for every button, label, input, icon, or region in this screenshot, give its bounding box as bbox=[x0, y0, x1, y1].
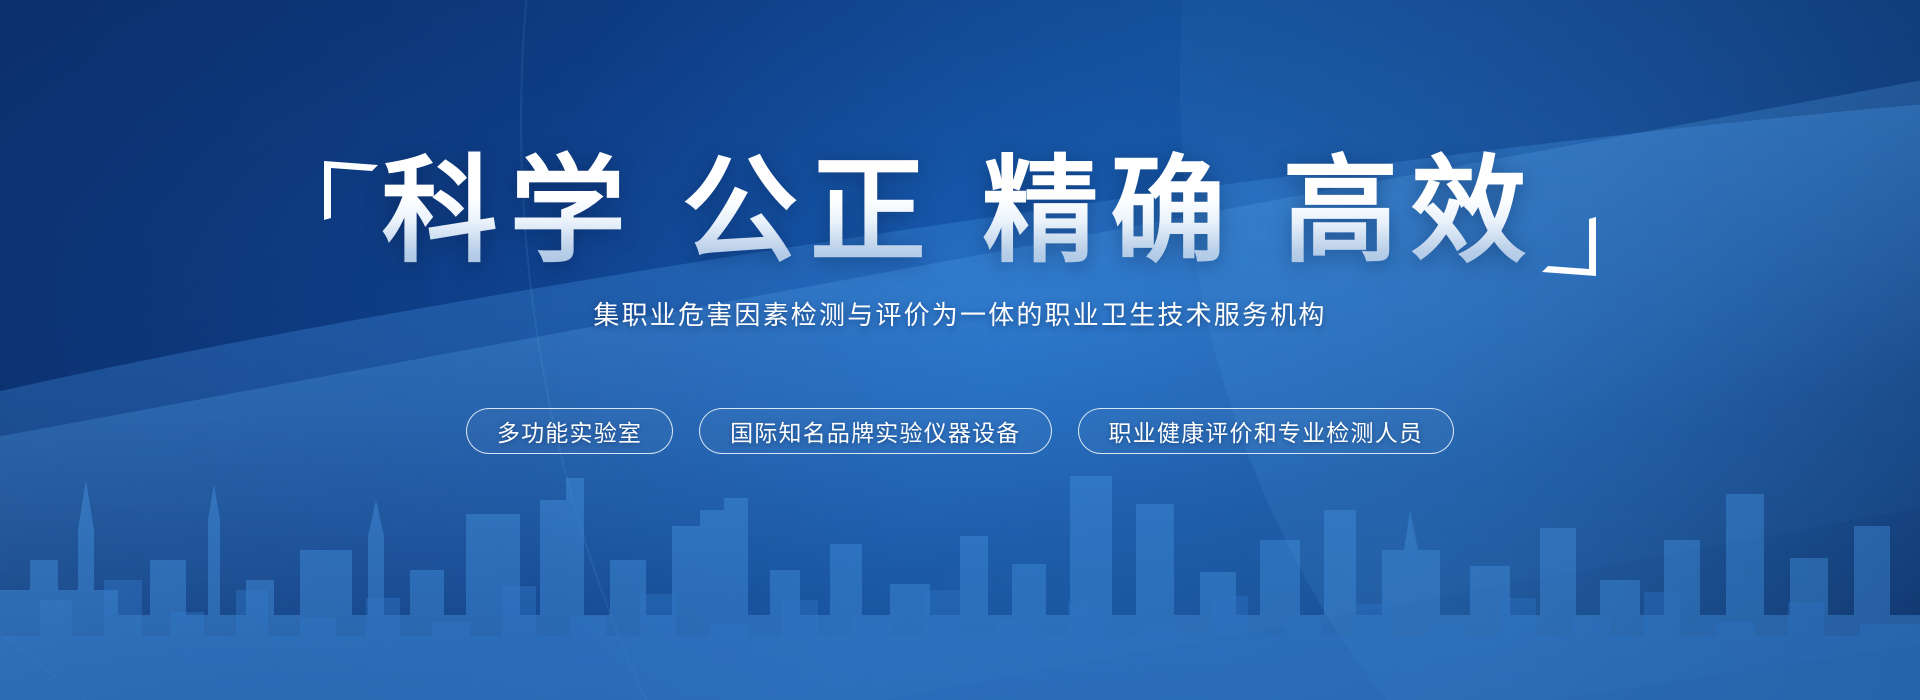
feature-pill-lab-label: 多功能实验室 bbox=[497, 414, 642, 448]
background-arc-outline-1 bbox=[520, 0, 1920, 700]
skyline-near-icon bbox=[0, 440, 1920, 700]
banner-content: 科学 公正 精确 高效 集职业危害因素检测与评价为一体的职业卫生技术服务机构 多… bbox=[0, 0, 1920, 700]
corner-bracket-close-icon bbox=[1542, 217, 1598, 279]
feature-pill-equipment-label: 国际知名品牌实验仪器设备 bbox=[730, 414, 1020, 448]
headline-block: 科学 公正 精确 高效 bbox=[320, 150, 1601, 273]
background-arc-outline-2 bbox=[0, 0, 1920, 700]
light-swoosh-upper bbox=[0, 34, 1920, 700]
light-swoosh-lower bbox=[0, 18, 1920, 700]
background-arc-6 bbox=[1180, 0, 1920, 700]
subtitle-text: 集职业危害因素检测与评价为一体的职业卫生技术服务机构 bbox=[593, 295, 1326, 332]
background-vignette bbox=[0, 0, 1920, 700]
hero-banner: 科学 公正 精确 高效 集职业危害因素检测与评价为一体的职业卫生技术服务机构 多… bbox=[0, 0, 1920, 700]
background-arc-2 bbox=[130, 0, 1920, 700]
skyline-far-icon bbox=[0, 440, 1920, 700]
background-arc-5 bbox=[760, 0, 1920, 700]
corner-bracket-open-icon bbox=[322, 158, 378, 220]
feature-pill-staff-label: 职业健康评价和专业检测人员 bbox=[1109, 414, 1424, 448]
headline-text: 科学 公正 精确 高效 bbox=[382, 150, 1539, 273]
feature-pill-staff[interactable]: 职业健康评价和专业检测人员 bbox=[1078, 408, 1455, 454]
feature-pill-group: 多功能实验室 国际知名品牌实验仪器设备 职业健康评价和专业检测人员 bbox=[466, 408, 1454, 454]
background-arc-1 bbox=[0, 0, 1920, 700]
feature-pill-equipment[interactable]: 国际知名品牌实验仪器设备 bbox=[699, 408, 1051, 454]
feature-pill-lab[interactable]: 多功能实验室 bbox=[466, 408, 673, 454]
background-arc-3 bbox=[430, 0, 1920, 700]
background-arc-4 bbox=[0, 0, 1920, 700]
